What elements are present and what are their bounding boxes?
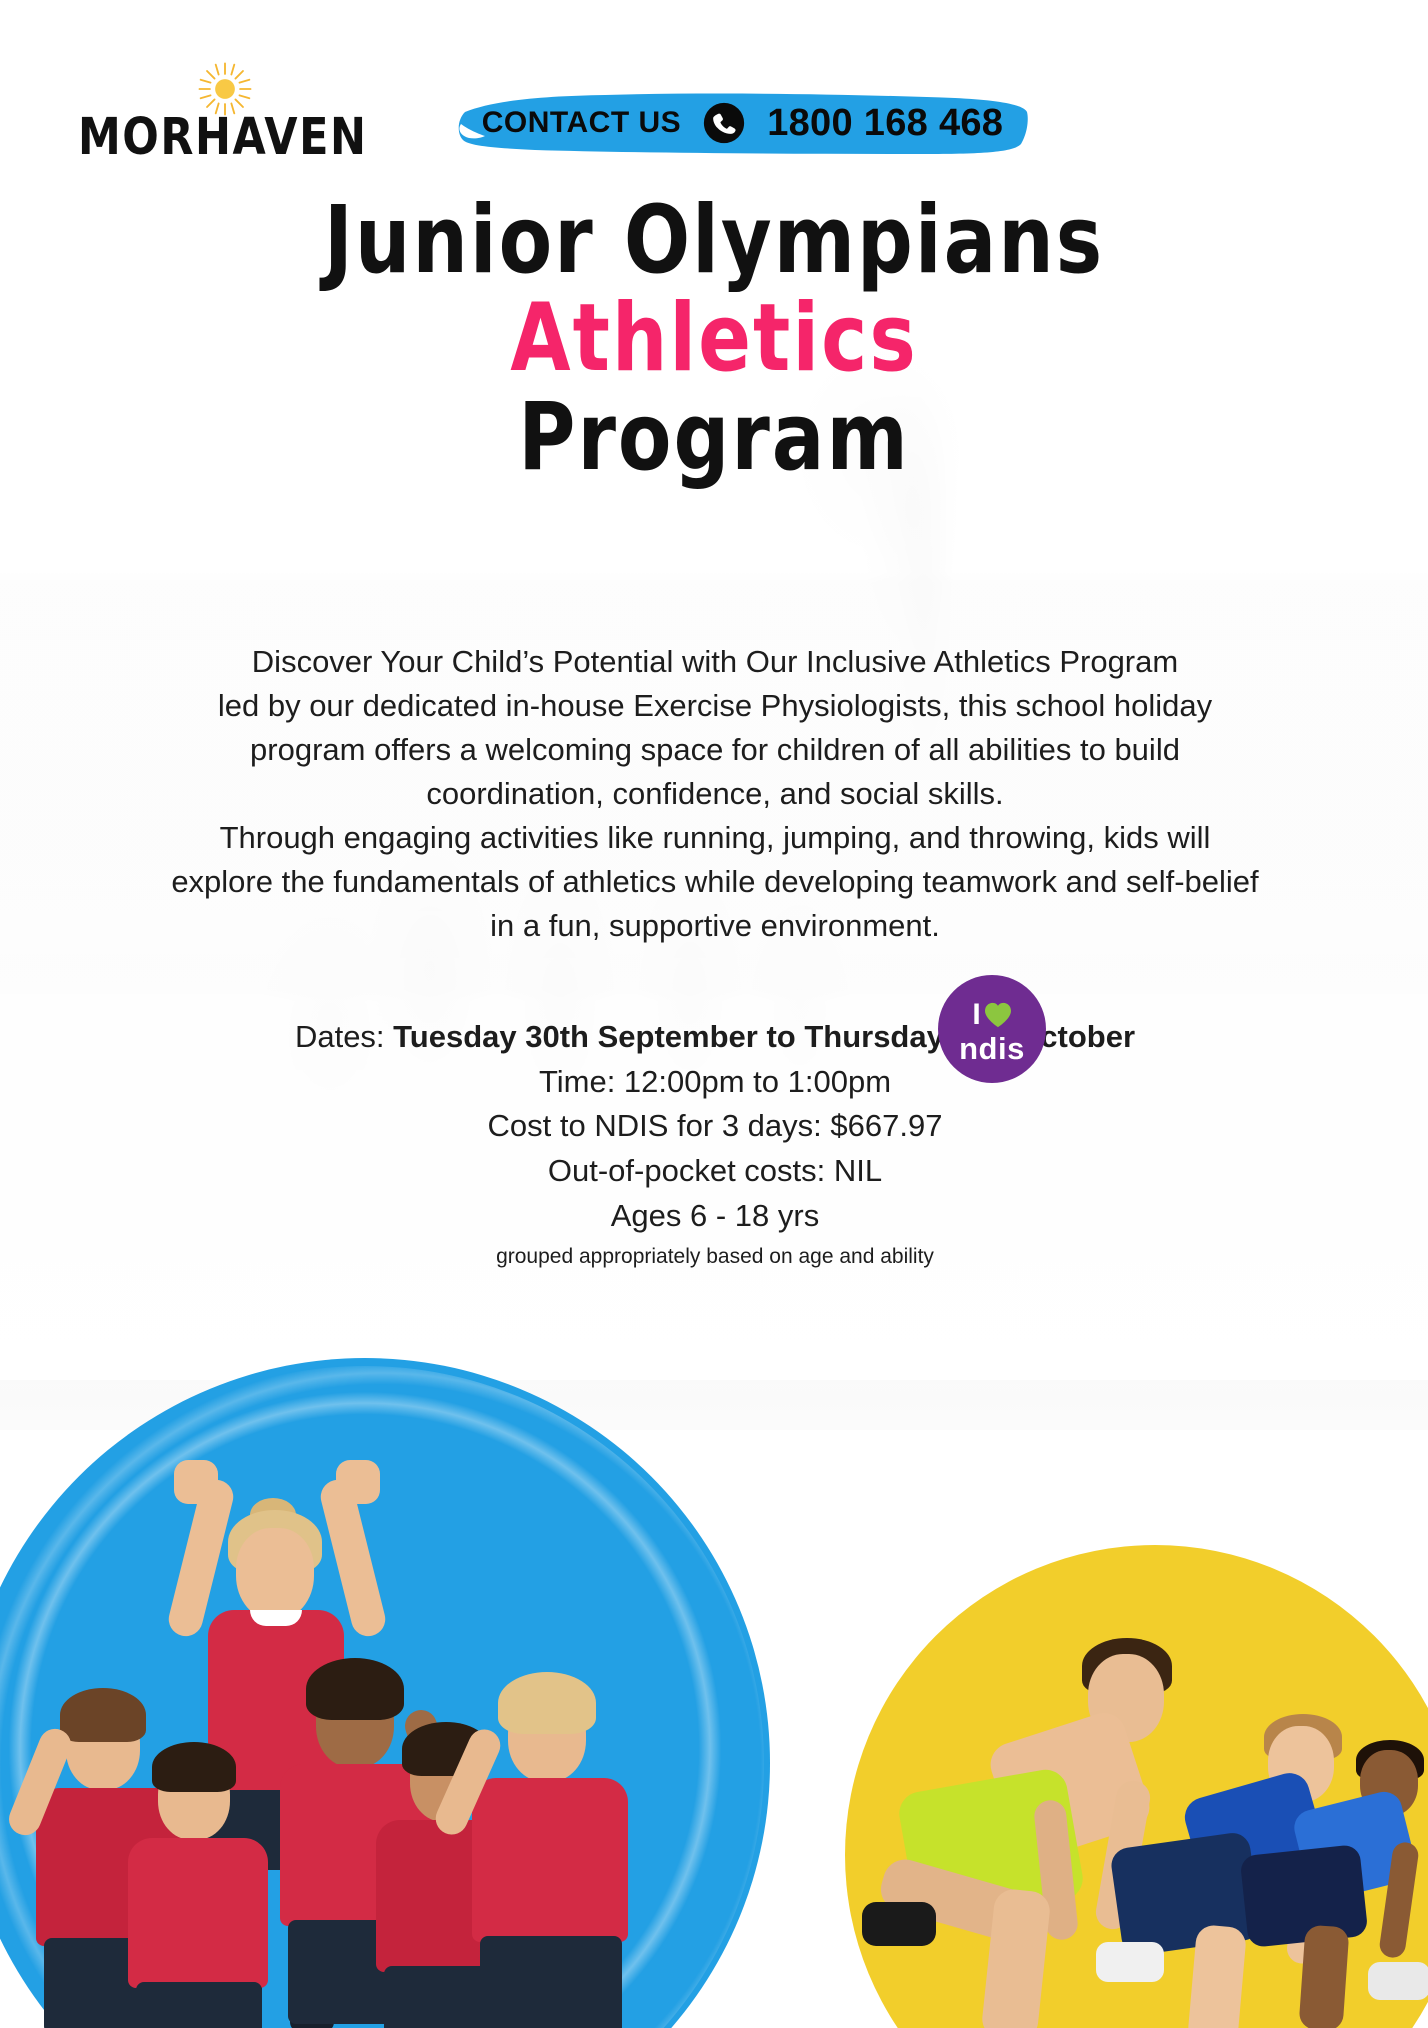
body-line: Through engaging activities like running… <box>70 816 1360 860</box>
body-line: explore the fundamentals of athletics wh… <box>70 860 1360 904</box>
detail-ages-note: grouped appropriately based on age and a… <box>70 1242 1360 1272</box>
ndis-i-letter: I <box>972 1000 980 1030</box>
photo-runner-background <box>1240 1730 1428 2028</box>
detail-ages: Ages 6 - 18 yrs <box>70 1194 1360 1239</box>
dates-label: Dates: <box>295 1019 393 1054</box>
photo-crowd-kid <box>462 1660 642 2028</box>
brand-logo: MORHAVEN <box>78 60 353 170</box>
body-line: program offers a welcoming space for chi… <box>70 728 1360 772</box>
title-line-1: Junior Olympians <box>0 195 1428 287</box>
phone-icon <box>703 102 745 144</box>
body-line: Discover Your Child’s Potential with Our… <box>70 640 1360 684</box>
contact-label: CONTACT US <box>482 106 681 140</box>
phone-number[interactable]: 1800 168 468 <box>767 102 1003 145</box>
body-line: led by our dedicated in-house Exercise P… <box>70 684 1360 728</box>
contact-banner[interactable]: CONTACT US 1800 168 468 <box>455 90 1030 156</box>
detail-time: Time: 12:00pm to 1:00pm <box>70 1060 1360 1105</box>
photo-crowd-kid <box>118 1730 288 2028</box>
detail-out-of-pocket: Out-of-pocket costs: NIL <box>70 1149 1360 1194</box>
title-line-3: Program <box>0 392 1428 484</box>
program-details: Dates: Tuesday 30th September to Thursda… <box>70 1015 1360 1272</box>
title-line-2: Athletics <box>0 293 1428 385</box>
heart-icon <box>984 1002 1012 1028</box>
body-line: in a fun, supportive environment. <box>70 904 1360 948</box>
poster-header: MORHAVEN CONTACT US 1800 168 468 <box>0 0 1428 200</box>
detail-cost-ndis: Cost to NDIS for 3 days: $667.97 <box>70 1104 1360 1149</box>
bottom-photo-collage <box>0 1330 1428 2028</box>
body-line: coordination, confidence, and social ski… <box>70 772 1360 816</box>
ndis-badge: I ndis <box>938 975 1046 1083</box>
body-copy: Discover Your Child’s Potential with Our… <box>70 640 1360 948</box>
ndis-word: ndis <box>959 1033 1025 1064</box>
detail-dates: Dates: Tuesday 30th September to Thursda… <box>70 1015 1360 1060</box>
brand-name: MORHAVEN <box>78 108 353 167</box>
poster-title: Junior Olympians Athletics Program <box>0 195 1428 468</box>
